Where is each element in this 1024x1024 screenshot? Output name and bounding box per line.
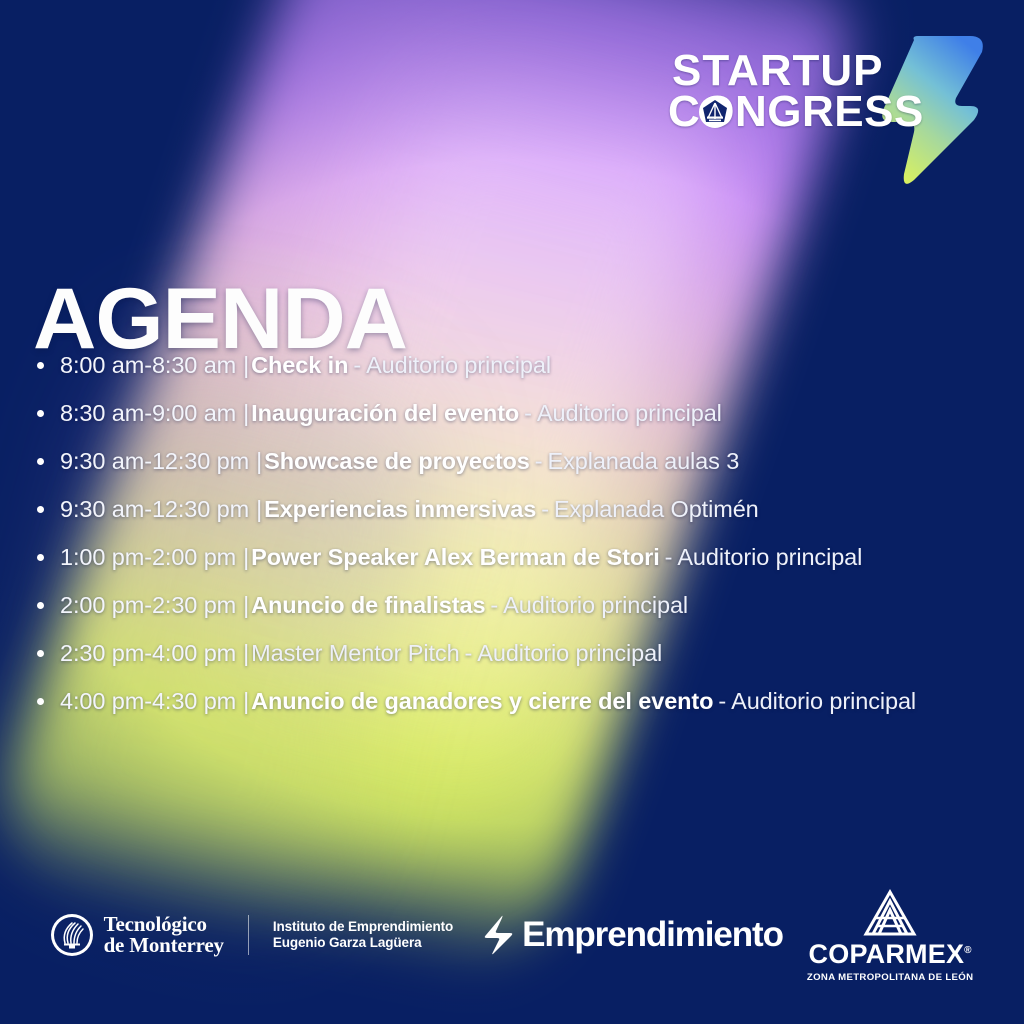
- emprendimiento-wordmark: Emprendimiento: [522, 915, 783, 955]
- startup-congress-logo: STARTUP CONGRESS: [668, 36, 998, 196]
- agenda-item: 8:00 am-8:30 am|Check in-Auditorio princ…: [28, 341, 1008, 389]
- agenda-item-separator: |: [236, 544, 251, 571]
- tec-word-line2: de Monterrey: [104, 935, 224, 956]
- agenda-item-title: Showcase de proyectos: [264, 448, 530, 475]
- coparmex-subtitle: ZONA METROPOLITANA DE LEÓN: [807, 972, 974, 983]
- emprendimiento-logo: Emprendimiento: [483, 915, 783, 955]
- footer-divider: [248, 915, 249, 955]
- agenda-item-place: Auditorio principal: [731, 688, 916, 715]
- agenda-item: 8:30 am-9:00 am|Inauguración del evento-…: [28, 389, 1008, 437]
- agenda-item-title: Experiencias inmersivas: [264, 496, 536, 523]
- agenda-item-time: 4:00 pm-4:30 pm: [60, 688, 236, 715]
- congress-hex-badge-icon: [698, 96, 732, 128]
- agenda-item: 2:00 pm-2:30 pm|Anuncio de finalistas-Au…: [28, 581, 1008, 629]
- tec-de-monterrey-logo: Tecnológico de Monterrey Instituto de Em…: [51, 914, 454, 957]
- coparmex-wordmark: COPARMEX®: [809, 939, 972, 970]
- agenda-item-time: 2:30 pm-4:00 pm: [60, 640, 236, 667]
- tec-institute-name: Instituto de Emprendimiento Eugenio Garz…: [273, 919, 453, 952]
- agenda-item-separator: |: [249, 496, 264, 523]
- agenda-item-separator: |: [249, 448, 264, 475]
- agenda-item-place: Auditorio principal: [503, 592, 688, 619]
- tec-word-line1: Tecnológico: [104, 914, 224, 935]
- agenda-item-title: Inauguración del evento: [251, 400, 519, 427]
- agenda-item: 9:30 am-12:30 pm|Showcase de proyectos-E…: [28, 437, 1008, 485]
- agenda-item-title: Anuncio de ganadores y cierre del evento: [251, 688, 713, 715]
- bullet-dot-icon: [37, 410, 44, 417]
- agenda-item-dash: -: [660, 544, 678, 571]
- agenda-item-time: 1:00 pm-2:00 pm: [60, 544, 236, 571]
- agenda-item-place: Auditorio principal: [677, 544, 862, 571]
- agenda-list: 8:00 am-8:30 am|Check in-Auditorio princ…: [28, 341, 1008, 725]
- agenda-item-title: Anuncio de finalistas: [251, 592, 485, 619]
- brand-line-congress: CONGRESS: [668, 91, 958, 132]
- coparmex-logo: COPARMEX® ZONA METROPOLITANA DE LEÓN: [807, 888, 974, 983]
- agenda-item-time: 2:00 pm-2:30 pm: [60, 592, 236, 619]
- agenda-item-dash: -: [519, 400, 537, 427]
- coparmex-pyramid-icon: [858, 888, 922, 938]
- tec-wordmark: Tecnológico de Monterrey: [104, 914, 224, 957]
- agenda-item-dash: -: [485, 592, 503, 619]
- brand-line-startup: STARTUP: [668, 50, 958, 91]
- agenda-item-time: 8:30 am-9:00 am: [60, 400, 236, 427]
- agenda-item-dash: -: [713, 688, 731, 715]
- agenda-item-place: Explanada Optimén: [554, 496, 759, 523]
- agenda-item-title: Power Speaker Alex Berman de Stori: [251, 544, 659, 571]
- agenda-item: 4:00 pm-4:30 pm|Anuncio de ganadores y c…: [28, 677, 1008, 725]
- bullet-dot-icon: [37, 362, 44, 369]
- agenda-item: 1:00 pm-2:00 pm|Power Speaker Alex Berma…: [28, 533, 1008, 581]
- agenda-item-separator: |: [236, 592, 251, 619]
- coparmex-word-text: COPARMEX: [809, 939, 965, 969]
- tec-de-monterrey-emblem-icon: [51, 914, 93, 956]
- footer-sponsor-bar: Tecnológico de Monterrey Instituto de Em…: [0, 890, 1024, 980]
- bullet-dot-icon: [37, 602, 44, 609]
- bullet-dot-icon: [37, 458, 44, 465]
- tec-institute-line2: Eugenio Garza Lagüera: [273, 935, 453, 951]
- agenda-item-time: 8:00 am-8:30 am: [60, 352, 236, 379]
- coparmex-registered-mark: ®: [964, 945, 972, 956]
- agenda-item-dash: -: [460, 640, 478, 667]
- poster-canvas: STARTUP CONGRESS AGENDA 8:00 am-8:30 am|…: [0, 0, 1024, 1024]
- agenda-item-time: 9:30 am-12:30 pm: [60, 448, 249, 475]
- agenda-item-separator: |: [236, 400, 251, 427]
- agenda-item-time: 9:30 am-12:30 pm: [60, 496, 249, 523]
- brand-wordmark: STARTUP CONGRESS: [668, 50, 958, 133]
- bullet-dot-icon: [37, 506, 44, 513]
- agenda-item-separator: |: [236, 688, 251, 715]
- agenda-item: 9:30 am-12:30 pm|Experiencias inmersivas…: [28, 485, 1008, 533]
- agenda-item-dash: -: [536, 496, 554, 523]
- agenda-item-place: Explanada aulas 3: [548, 448, 740, 475]
- agenda-item-title: Master Mentor Pitch: [251, 640, 459, 667]
- tec-institute-line1: Instituto de Emprendimiento: [273, 919, 453, 935]
- agenda-item: 2:30 pm-4:00 pm|Master Mentor Pitch-Audi…: [28, 629, 1008, 677]
- agenda-item-place: Auditorio principal: [537, 400, 722, 427]
- emprendimiento-bolt-icon: [483, 915, 515, 955]
- agenda-item-dash: -: [348, 352, 366, 379]
- agenda-item-separator: |: [236, 352, 251, 379]
- agenda-item-title: Check in: [251, 352, 348, 379]
- agenda-item-place: Auditorio principal: [366, 352, 551, 379]
- bullet-dot-icon: [37, 650, 44, 657]
- bullet-dot-icon: [37, 554, 44, 561]
- agenda-item-separator: |: [236, 640, 251, 667]
- agenda-item-place: Auditorio principal: [477, 640, 662, 667]
- bullet-dot-icon: [37, 698, 44, 705]
- agenda-item-dash: -: [530, 448, 548, 475]
